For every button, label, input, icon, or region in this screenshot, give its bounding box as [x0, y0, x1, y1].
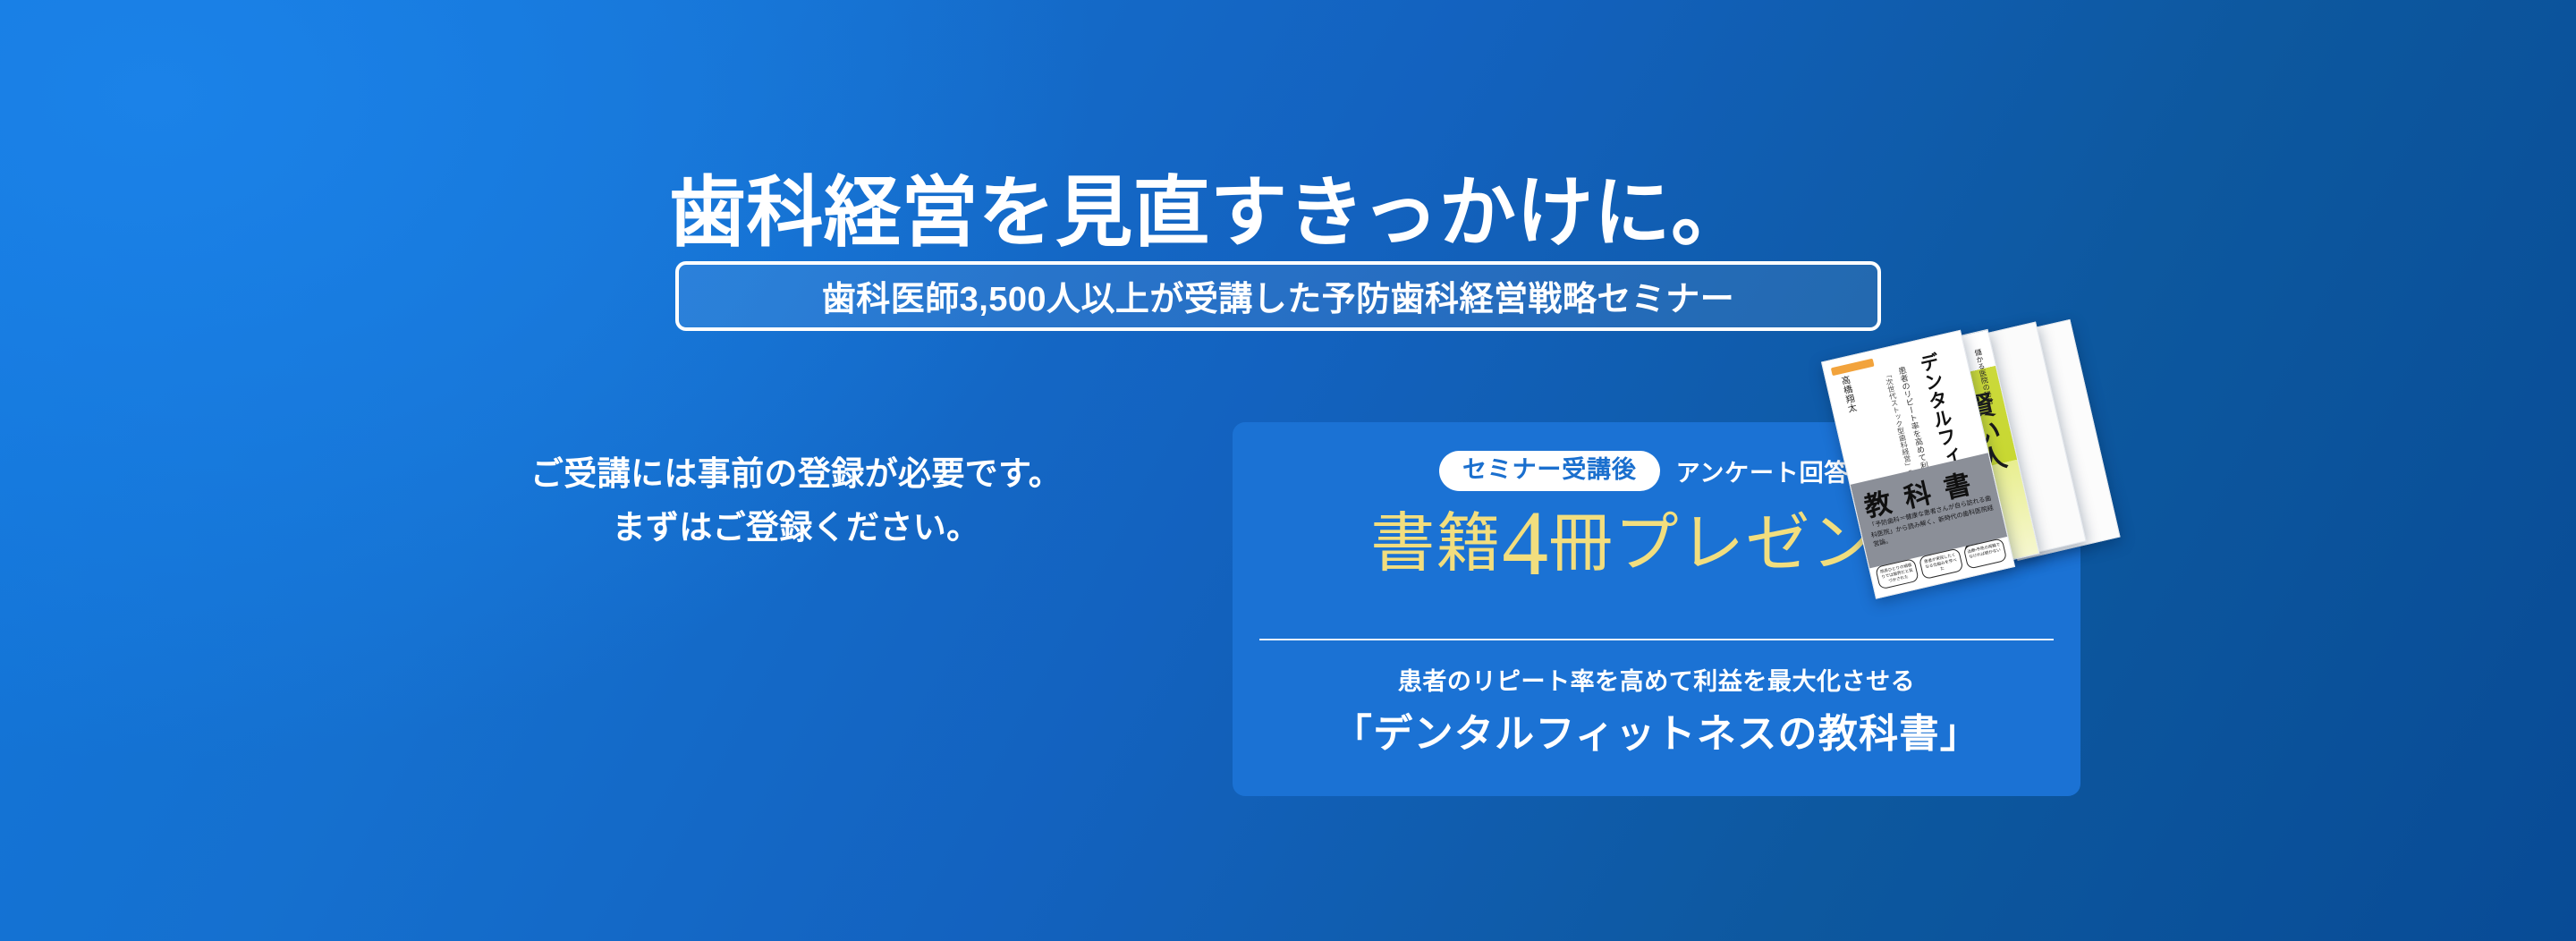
page-title: 歯科経営を見直すきっかけに。	[669, 170, 1885, 256]
lead-copy-line-2: まずはご登録ください。	[501, 501, 1091, 555]
promo-book-title: 「デンタルフィットネスの教科書」	[1233, 701, 2080, 759]
subtitle-text: 歯科医師3,500人以上が受講した予防歯科経営戦略セミナー	[822, 271, 1734, 320]
promo-gift-number: 4	[1502, 492, 1548, 595]
status-badge: セミナー受講後	[1439, 451, 1660, 491]
book-front-author: 高橋翔太	[1836, 375, 1858, 415]
promo-gift-prefix: 書籍	[1370, 508, 1502, 580]
hero-banner: 歯科経営を見直すきっかけに。 歯科医師3,500人以上が受講した予防歯科経営戦略…	[0, 0, 2576, 941]
lead-copy: ご受講には事前の登録が必要です。 まずはご登録ください。	[501, 447, 1091, 555]
book-stack-image: 儲かる医院の秘密 賢い人 この1冊で歯科経営が劇的に変わる デンタルフィットネス…	[1809, 301, 2148, 626]
lead-copy-line-1: ご受講には事前の登録が必要です。	[501, 447, 1091, 501]
divider	[1259, 639, 2054, 640]
promo-sub-text: 患者のリピート率を高めて利益を最大化させる	[1233, 662, 2080, 697]
subtitle-box: 歯科医師3,500人以上が受講した予防歯科経営戦略セミナー	[675, 261, 1881, 331]
series-strip	[1831, 359, 1875, 377]
